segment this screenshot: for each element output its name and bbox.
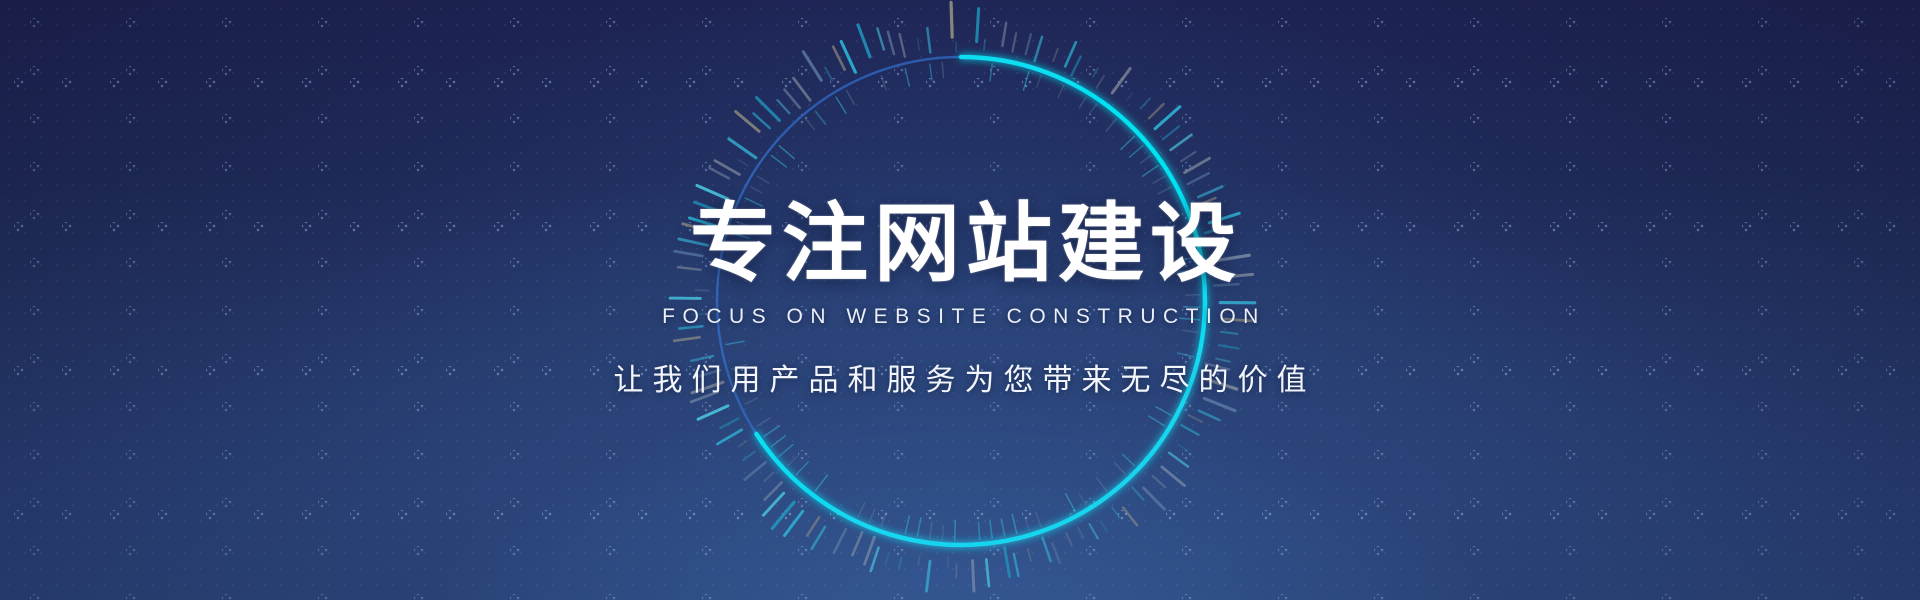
banner-subtitle-chinese: 让我们用产品和服务为您带来无尽的价值	[605, 355, 1316, 399]
banner-headline: 专注网站建设	[684, 201, 1242, 289]
banner-subtitle-english: FOCUS ON WEBSITE CONSTRUCTION	[654, 305, 1266, 329]
banner-content: 专注网站建设 FOCUS ON WEBSITE CONSTRUCTION 让我们…	[0, 0, 1920, 600]
hero-banner: 专注网站建设 FOCUS ON WEBSITE CONSTRUCTION 让我们…	[0, 0, 1920, 600]
